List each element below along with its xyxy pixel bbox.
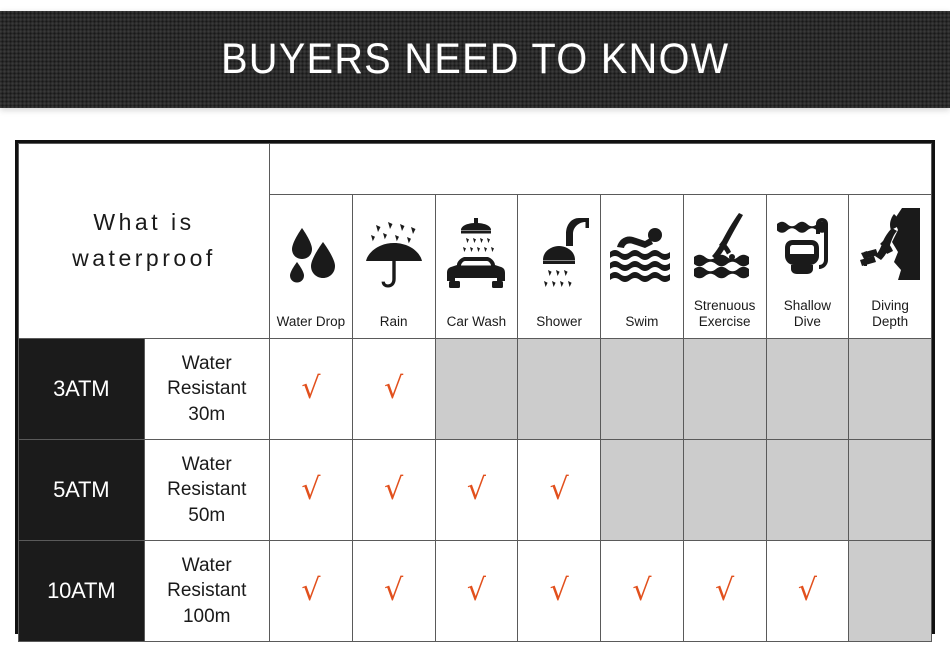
column-header-strenuous-exercise: StrenuousExercise	[683, 195, 766, 339]
column-header-diving-depth: DivingDepth	[849, 195, 932, 339]
cell-5atm-diving-depth	[849, 440, 932, 541]
cell-3atm-rain: √	[352, 339, 435, 440]
rating-badge-cell-3atm: 3ATM	[19, 339, 145, 440]
check-icon: √	[467, 475, 486, 505]
corner-title-line2: waterproof	[19, 241, 269, 277]
check-icon: √	[301, 374, 320, 404]
cell-5atm-shallow-dive	[766, 440, 849, 541]
description-line2: 100m	[145, 604, 270, 630]
cell-5atm-swim	[601, 440, 684, 541]
column-label-diving-depth: DivingDepth	[869, 298, 911, 332]
column-label-water-drop: Water Drop	[275, 314, 348, 332]
description-line1: Water Resistant	[167, 454, 246, 501]
cell-10atm-car-wash: √	[435, 541, 518, 642]
corner-title-line1: What is	[93, 209, 194, 235]
cell-5atm-strenuous-exercise	[683, 440, 766, 541]
check-icon: √	[798, 576, 817, 606]
column-label-rain: Rain	[378, 314, 410, 332]
cell-3atm-shower	[518, 339, 601, 440]
scuba-diver-icon	[849, 195, 931, 298]
description-cell-10atm: Water Resistant 100m	[144, 541, 270, 642]
check-icon: √	[301, 475, 320, 505]
cell-5atm-water-drop: √	[270, 440, 353, 541]
column-label-car-wash: Car Wash	[445, 314, 509, 332]
check-icon: √	[632, 576, 651, 606]
table-row: 10ATM Water Resistant 100m √ √ √ √ √ √ √	[19, 541, 932, 642]
rating-badge-cell-10atm: 10ATM	[19, 541, 145, 642]
description-cell-5atm: Water Resistant 50m	[144, 440, 270, 541]
water-drop-icon	[270, 195, 352, 314]
snorkel-mask-icon	[767, 195, 849, 298]
cell-3atm-diving-depth	[849, 339, 932, 440]
cell-10atm-strenuous-exercise: √	[683, 541, 766, 642]
cell-5atm-car-wash: √	[435, 440, 518, 541]
cell-10atm-shallow-dive: √	[766, 541, 849, 642]
description-line1: Water Resistant	[167, 353, 246, 400]
cell-10atm-rain: √	[352, 541, 435, 642]
shower-icon	[518, 195, 600, 314]
check-icon: √	[384, 374, 403, 404]
check-icon: √	[384, 475, 403, 505]
cell-10atm-swim: √	[601, 541, 684, 642]
cell-5atm-rain: √	[352, 440, 435, 541]
check-icon: √	[301, 576, 320, 606]
description-line2: 50m	[145, 503, 270, 529]
cell-3atm-strenuous-exercise	[683, 339, 766, 440]
check-icon: √	[550, 475, 569, 505]
description-cell-3atm: Water Resistant 30m	[144, 339, 270, 440]
rating-badge: 10ATM	[19, 541, 144, 641]
column-label-swim: Swim	[623, 314, 660, 332]
check-icon: √	[715, 576, 734, 606]
check-icon: √	[550, 576, 569, 606]
description-line1: Water Resistant	[167, 555, 246, 602]
diving-exercise-icon	[684, 195, 766, 298]
column-header-rain: Rain	[352, 195, 435, 339]
conditions-range-header: Conditions Range	[270, 144, 932, 195]
page-banner: BUYERS NEED TO KNOW	[0, 11, 950, 108]
column-label-shower: Shower	[534, 314, 584, 332]
car-wash-icon	[436, 195, 518, 314]
column-header-car-wash: Car Wash	[435, 195, 518, 339]
description-line2: 30m	[145, 402, 270, 428]
rating-badge: 5ATM	[19, 440, 144, 540]
rain-umbrella-icon	[353, 195, 435, 314]
column-header-shallow-dive: ShallowDive	[766, 195, 849, 339]
page-title: BUYERS NEED TO KNOW	[221, 35, 729, 84]
check-icon: √	[467, 576, 486, 606]
cell-10atm-diving-depth	[849, 541, 932, 642]
column-header-shower: Shower	[518, 195, 601, 339]
column-header-swim: Swim	[601, 195, 684, 339]
table-row: 3ATM Water Resistant 30m √ √	[19, 339, 932, 440]
cell-5atm-shower: √	[518, 440, 601, 541]
cell-10atm-shower: √	[518, 541, 601, 642]
rating-badge: 3ATM	[19, 339, 144, 439]
waterproof-comparison-table: What is waterproof Conditions Range	[15, 140, 935, 634]
cell-3atm-water-drop: √	[270, 339, 353, 440]
cell-10atm-water-drop: √	[270, 541, 353, 642]
rating-badge-cell-5atm: 5ATM	[19, 440, 145, 541]
corner-title-cell: What is waterproof	[19, 144, 270, 339]
column-label-shallow-dive: ShallowDive	[782, 298, 833, 332]
check-icon: √	[384, 576, 403, 606]
swim-icon	[601, 195, 683, 314]
cell-3atm-swim	[601, 339, 684, 440]
cell-3atm-car-wash	[435, 339, 518, 440]
table-row: 5ATM Water Resistant 50m √ √ √ √	[19, 440, 932, 541]
column-label-strenuous-exercise: StrenuousExercise	[692, 298, 758, 332]
table-group-header-row: What is waterproof Conditions Range	[19, 144, 932, 195]
column-header-water-drop: Water Drop	[270, 195, 353, 339]
cell-3atm-shallow-dive	[766, 339, 849, 440]
